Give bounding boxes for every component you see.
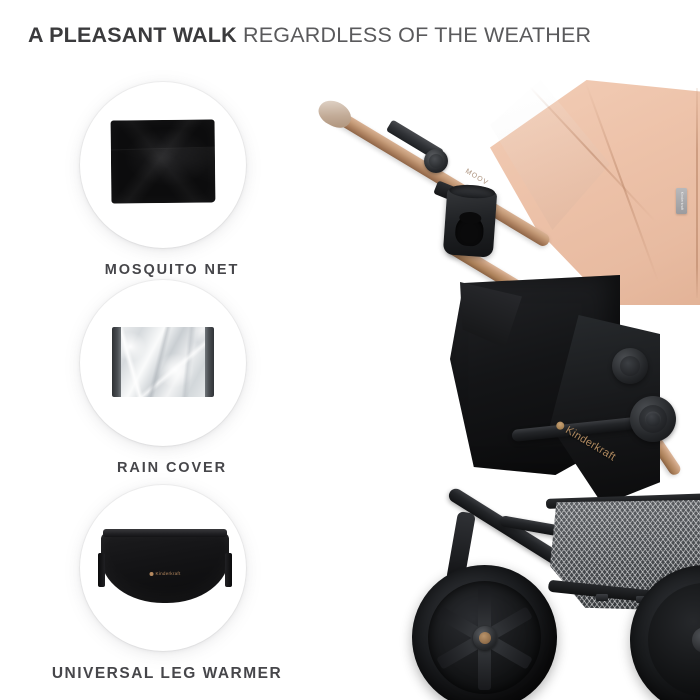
rain-cover-edge-left <box>112 327 121 397</box>
canopy-fabric <box>490 80 700 305</box>
accessory-label-rain-cover: RAIN COVER <box>14 460 330 476</box>
accessory-item-mosquito-net[interactable]: MOSQUITO NET <box>0 82 330 278</box>
mosquito-net-product-image <box>111 119 216 203</box>
accessory-badge <box>80 82 246 248</box>
kinderkraft-wordmark: Kinderkraft <box>156 571 181 576</box>
cup-holder-cutout <box>454 215 484 247</box>
front-wheel-hub-cap <box>473 626 497 650</box>
accessory-label-mosquito-net: MOSQUITO NET <box>14 262 330 278</box>
rain-cover-film <box>112 327 214 397</box>
page-title-bold: A PLEASANT WALK <box>28 23 237 47</box>
kinderkraft-mark-icon <box>150 572 154 576</box>
handlebar-adjust-button[interactable] <box>424 149 448 173</box>
front-wheel <box>412 565 557 700</box>
accessory-item-rain-cover[interactable]: RAIN COVER <box>0 280 330 476</box>
accessory-item-leg-warmer[interactable]: Kinderkraft UNIVERSAL LEG WARMER <box>0 485 330 683</box>
rain-cover-product-image <box>112 327 214 397</box>
cup-holder <box>443 188 497 257</box>
basket-clip <box>596 594 608 601</box>
recline-hub-upper <box>612 348 648 384</box>
canopy-tag-text: Kinderkraft <box>680 192 684 211</box>
stroller-canopy: Kinderkraft <box>490 80 700 305</box>
canopy-brand-tag: Kinderkraft <box>676 188 687 214</box>
leg-warmer-strap-left <box>98 553 105 587</box>
rain-cover-edge-right <box>205 327 214 397</box>
stroller-product-image: Kinderkraft Kinderkraft MOOV <box>300 60 700 700</box>
accessory-badge <box>80 280 246 446</box>
page-title-light: REGARDLESS OF THE WEATHER <box>243 23 591 47</box>
page-title: A PLEASANT WALK REGARDLESS OF THE WEATHE… <box>0 25 591 47</box>
kinderkraft-logo: Kinderkraft <box>150 571 181 576</box>
leg-warmer-product-image: Kinderkraft <box>101 529 229 603</box>
recline-hub-lower <box>630 396 676 442</box>
accessory-list: MOSQUITO NET RAIN COVER Kinderkra <box>0 72 330 700</box>
leg-warmer-top-edge <box>103 529 227 537</box>
accessory-badge: Kinderkraft <box>80 485 246 651</box>
hub-kinderkraft-emblem-icon <box>645 412 661 427</box>
leg-warmer-body <box>101 533 229 603</box>
kinderkraft-mark-icon <box>555 420 566 431</box>
accessory-label-leg-warmer: UNIVERSAL LEG WARMER <box>4 665 330 683</box>
canopy-zipper <box>696 88 698 298</box>
leg-warmer-strap-right <box>225 553 232 587</box>
cup-holder-rim <box>449 183 496 199</box>
